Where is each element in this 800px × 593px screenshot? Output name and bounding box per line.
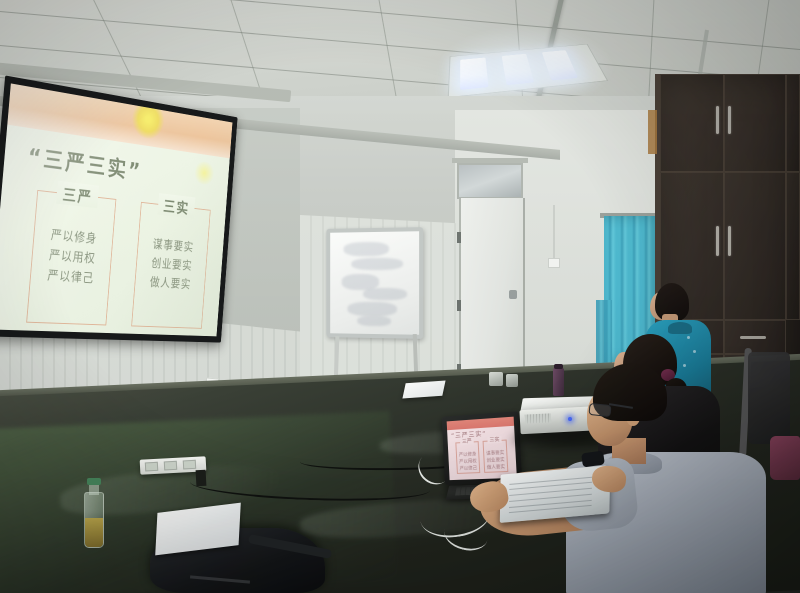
- whiteboard-surface: [330, 231, 419, 335]
- door-handle[interactable]: [509, 290, 517, 299]
- pink-bag-on-chair[interactable]: [770, 436, 800, 480]
- cabinet-handle-icon: [716, 226, 719, 256]
- cabinet-mid-door-far[interactable]: [786, 172, 800, 320]
- laptop-slide-box-left-lines: 严以修身 严以用权 严以律己: [457, 451, 479, 473]
- office-chair[interactable]: [748, 352, 790, 444]
- paper-cup[interactable]: [489, 372, 503, 386]
- cabinet-upper-door-left[interactable]: [660, 74, 724, 172]
- screen-frame: “三严三实” 三严 严以修身 严以用权 严以律己 三实 谋事要实: [0, 75, 238, 342]
- whiteboard-frame: [326, 227, 423, 339]
- laptop-slide-box-left-header: 三严: [460, 437, 474, 445]
- loose-paper-on-table[interactable]: [402, 380, 445, 398]
- cabinet-mid-door-right[interactable]: [724, 172, 786, 320]
- laptop-slide-box-left: 三严 严以修身 严以用权 严以律己: [455, 441, 480, 474]
- laptop-slide-box-right-header: 三实: [487, 436, 501, 444]
- slide-box-left-lines: 严以修身 严以用权 严以律己: [30, 224, 113, 290]
- cabinet-handle-icon: [728, 106, 731, 134]
- paper-cup[interactable]: [506, 374, 518, 387]
- bottle-contents: [85, 518, 103, 547]
- switch-pull-cord: [553, 205, 555, 259]
- projector-vent-icon: [525, 413, 551, 423]
- cabinet-upper-door-right[interactable]: [724, 74, 786, 172]
- slide-line: 严以律己: [30, 265, 110, 290]
- projector-power-led-icon: [568, 417, 572, 421]
- back-woman-collar: [668, 322, 692, 334]
- drawer-handle-icon: [740, 336, 766, 339]
- cabinet-upper-door-far[interactable]: [786, 74, 800, 172]
- cabinet-handle-icon: [716, 106, 719, 134]
- meeting-room-photo: “三严三实” 三严 严以修身 严以用权 严以律己 三实 谋事要实: [0, 0, 800, 593]
- slide-box-right-header: 三实: [157, 193, 195, 219]
- cabinet-handle-icon: [728, 226, 731, 256]
- power-plug[interactable]: [196, 470, 207, 487]
- slide-box-left: 三严 严以修身 严以用权 严以律己: [26, 190, 116, 326]
- slide-box-right-lines: 谋事要实 创业要实 做人要实: [135, 234, 208, 296]
- light-switch[interactable]: [548, 258, 560, 268]
- door-hinge: [457, 300, 461, 311]
- purple-bottle-cap: [554, 364, 563, 369]
- laptop-slide-box-right-lines: 谋事要实 创业要实 做人要实: [484, 450, 507, 473]
- slide-title: “三严三实”: [27, 138, 144, 185]
- laptop-slide-box-right: 三实 谋事要实 创业要实 做人要实: [483, 440, 509, 473]
- projected-slide: “三严三实” 三严 严以修身 严以用权 严以律己 三实 谋事要实: [0, 83, 232, 336]
- slide-line: 做人要实: [135, 272, 205, 295]
- laptop-slide-line: 严以律己: [458, 465, 480, 473]
- laptop-screen: “三严三实” 三严 严以修身 严以用权 严以律己 三实 谋事要实 创业要实 做人…: [447, 417, 517, 481]
- screen-surface: “三严三实” 三严 严以修身 严以用权 严以律己 三实 谋事要实: [0, 83, 232, 336]
- slide-box-right: 三实 谋事要实 创业要实 做人要实: [131, 202, 210, 329]
- wall-wood-trim: [648, 110, 657, 154]
- slide-box-left-header: 三严: [56, 181, 99, 208]
- glasses-icon: [588, 403, 611, 417]
- pull-down-projection-screen: “三严三实” 三严 严以修身 严以用权 严以律己 三实 谋事要实: [0, 75, 238, 342]
- sun-glow-graphic-icon: [193, 160, 216, 186]
- door-hinge: [457, 232, 461, 243]
- sunflower-graphic-icon: [131, 98, 166, 141]
- glass-tea-bottle[interactable]: [82, 478, 106, 548]
- door-transom-window: [457, 163, 523, 199]
- mobile-whiteboard: [325, 228, 423, 338]
- laptop-slide-line: 做人要实: [485, 464, 507, 472]
- bottle-cap[interactable]: [87, 478, 101, 485]
